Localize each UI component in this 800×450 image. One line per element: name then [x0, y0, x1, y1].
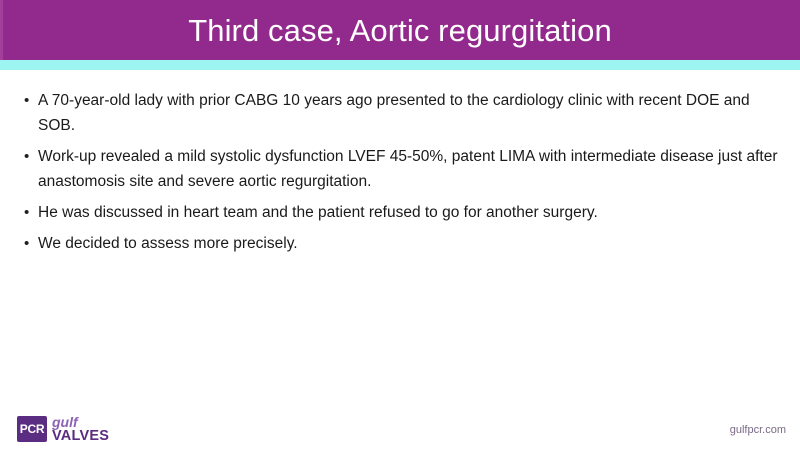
pcr-badge-label: PCR [20, 422, 44, 436]
logo-wordmark: gulf VALVES [52, 416, 109, 443]
bullet-text: A 70-year-old lady with prior CABG 10 ye… [38, 88, 782, 138]
slide: Third case, Aortic regurgitation • A 70-… [0, 0, 800, 450]
bullet-marker-icon: • [22, 231, 38, 256]
bullet-marker-icon: • [22, 200, 38, 225]
bullet-text: Work-up revealed a mild systolic dysfunc… [38, 144, 782, 194]
bullet-text: He was discussed in heart team and the p… [38, 200, 782, 225]
bullet-marker-icon: • [22, 88, 38, 113]
list-item: • Work-up revealed a mild systolic dysfu… [22, 144, 782, 194]
bullet-text: We decided to assess more precisely. [38, 231, 782, 256]
bullet-marker-icon: • [22, 144, 38, 169]
slide-title: Third case, Aortic regurgitation [188, 15, 612, 46]
list-item: • He was discussed in heart team and the… [22, 200, 782, 225]
footer-website-link[interactable]: gulfpcr.com [730, 424, 786, 436]
pcr-badge-icon: PCR [17, 416, 47, 442]
list-item: • We decided to assess more precisely. [22, 231, 782, 256]
logo-word-gulf: gulf [52, 416, 109, 429]
title-band: Third case, Aortic regurgitation [0, 0, 800, 60]
list-item: • A 70-year-old lady with prior CABG 10 … [22, 88, 782, 138]
logo-word-valves: VALVES [52, 429, 109, 443]
bullet-list: • A 70-year-old lady with prior CABG 10 … [22, 88, 782, 262]
pcr-gulf-valves-logo: PCR gulf VALVES [17, 414, 109, 444]
accent-stripe [0, 60, 800, 70]
